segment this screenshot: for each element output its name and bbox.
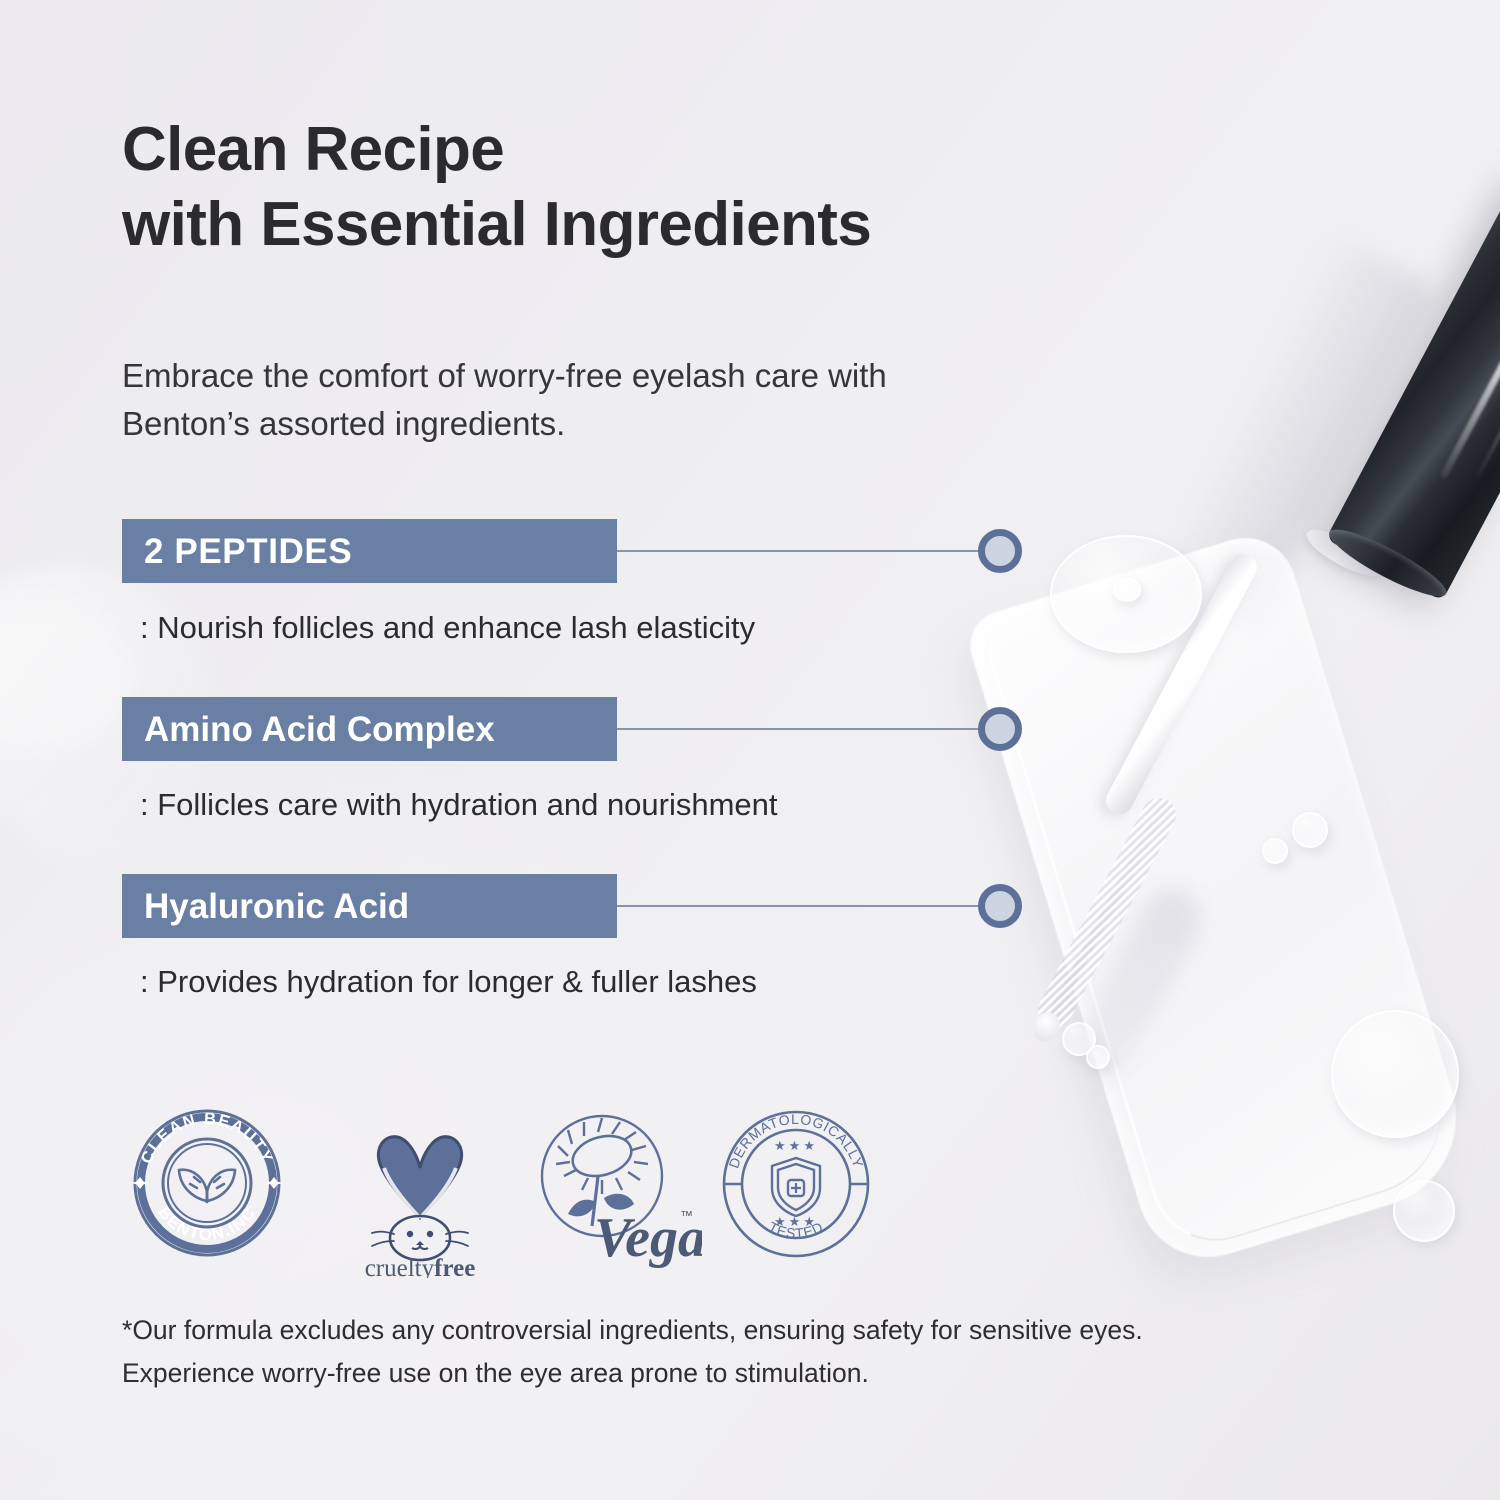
connector-dot-icon <box>978 529 1022 573</box>
shield-cross-icon <box>772 1158 820 1216</box>
connector-line <box>617 550 987 552</box>
ingredient-badge-peptides: 2 PEPTIDES <box>122 519 617 583</box>
free-text: free <box>434 1255 475 1278</box>
cruelty-text: cruelty <box>365 1255 435 1278</box>
clean-beauty-benton-seal: CLEAN BEAUTY BENTON.INC <box>122 1098 292 1278</box>
leaf-emblem <box>179 1170 235 1202</box>
connector-dot-icon <box>978 884 1022 928</box>
ingredient-badge-label: Amino Acid Complex <box>144 712 495 747</box>
ingredient-badge-hyaluronic-acid: Hyaluronic Acid <box>122 874 617 938</box>
ingredient-description: : Follicles care with hydration and nour… <box>140 789 778 820</box>
footnote: *Our formula excludes any controversial … <box>122 1309 1143 1395</box>
bunny-heart-ears-icon <box>372 1137 468 1260</box>
ingredient-description: : Nourish follicles and enhance lash ela… <box>140 612 755 643</box>
svg-text:crueltyfree: crueltyfree <box>365 1255 476 1278</box>
ingredient-badge-label: Hyaluronic Acid <box>144 889 409 924</box>
dermatologically-tested-seal: DERMATOLOGICALLY TESTED ★★★ ★★★ <box>710 1098 882 1278</box>
connector-line <box>617 728 987 730</box>
page-subtitle: Embrace the comfort of worry-free eyelas… <box>122 352 887 447</box>
infographic-page: Clean Recipe with Essential Ingredients … <box>0 0 1500 1500</box>
connector-line <box>617 905 987 907</box>
certification-seals: CLEAN BEAUTY BENTON.INC <box>122 1098 882 1278</box>
cruelty-free-seal: crueltyfree <box>332 1098 512 1278</box>
ingredient-badge-amino-acid-complex: Amino Acid Complex <box>122 697 617 761</box>
trademark-symbol: ™ <box>680 1208 693 1223</box>
connector-dot-icon <box>978 707 1022 751</box>
vegan-seal: Vegan ™ <box>522 1098 702 1278</box>
ingredient-badge-label: 2 PEPTIDES <box>144 534 352 569</box>
content-layer: Clean Recipe with Essential Ingredients … <box>0 0 1500 1500</box>
ingredient-description: : Provides hydration for longer & fuller… <box>140 966 757 997</box>
page-title: Clean Recipe with Essential Ingredients <box>122 112 871 262</box>
stars-top: ★★★ <box>774 1139 818 1154</box>
